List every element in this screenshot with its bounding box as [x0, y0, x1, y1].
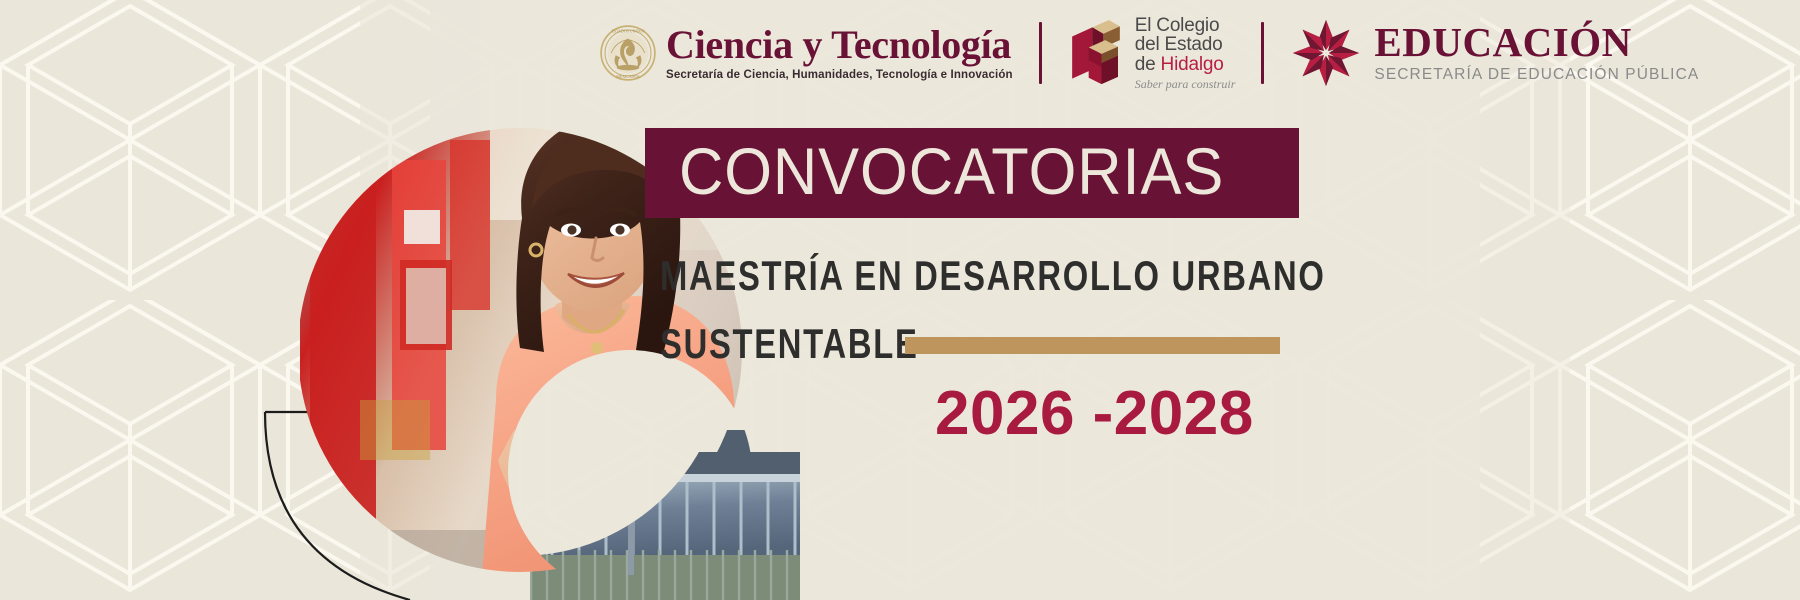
svg-text:MEXICANOS: MEXICANOS [616, 75, 639, 79]
gold-rule [905, 337, 1280, 354]
program-line-2: SUSTENTABLE [660, 320, 919, 368]
logo-ciencia-y-tecnologia: ESTADOS UNIDOS MEXICANOS Ciencia y Tecno… [600, 25, 1013, 81]
period-label: 2026 -2028 [935, 378, 1254, 449]
ciencia-subtitle: Secretaría de Ciencia, Humanidades, Tecn… [666, 69, 1013, 81]
convocatorias-banner-box: CONVOCATORIAS [645, 128, 1299, 218]
logo-educacion: EDUCACIÓN SECRETARÍA DE EDUCACIÓN PÚBLIC… [1290, 17, 1699, 89]
colegio-tagline: Saber para construir [1135, 78, 1236, 90]
convocatorias-label: CONVOCATORIAS [679, 138, 1224, 204]
colegio-line-3-prefix: de [1135, 54, 1161, 75]
ciencia-title: Ciencia y Tecnología [666, 25, 1013, 65]
logo-bar: ESTADOS UNIDOS MEXICANOS Ciencia y Tecno… [600, 14, 1699, 92]
educacion-title: EDUCACIÓN [1374, 22, 1699, 63]
isometric-book-blocks-icon [1068, 20, 1124, 86]
logo-divider-2 [1261, 22, 1264, 84]
colegio-line-3-accent: Hidalgo [1161, 54, 1224, 75]
educacion-subtitle: SECRETARÍA DE EDUCACIÓN PÚBLICA [1374, 66, 1699, 84]
convocatoria-banner: ESTADOS UNIDOS MEXICANOS Ciencia y Tecno… [0, 0, 1800, 600]
program-line-1: MAESTRÍA EN DESARROLLO URBANO [660, 252, 1326, 300]
colegio-line-2: del Estado [1135, 35, 1236, 55]
eight-pointed-star-icon [1290, 17, 1362, 89]
colegio-line-1: El Colegio [1135, 16, 1236, 36]
mexico-national-seal-icon: ESTADOS UNIDOS MEXICANOS [600, 25, 656, 81]
colegio-line-3: de Hidalgo [1135, 55, 1236, 75]
logo-divider-1 [1039, 22, 1042, 84]
logo-colegio-hidalgo: El Colegio del Estado de Hidalgo Saber p… [1068, 16, 1236, 91]
svg-text:ESTADOS UNIDOS: ESTADOS UNIDOS [612, 29, 645, 33]
